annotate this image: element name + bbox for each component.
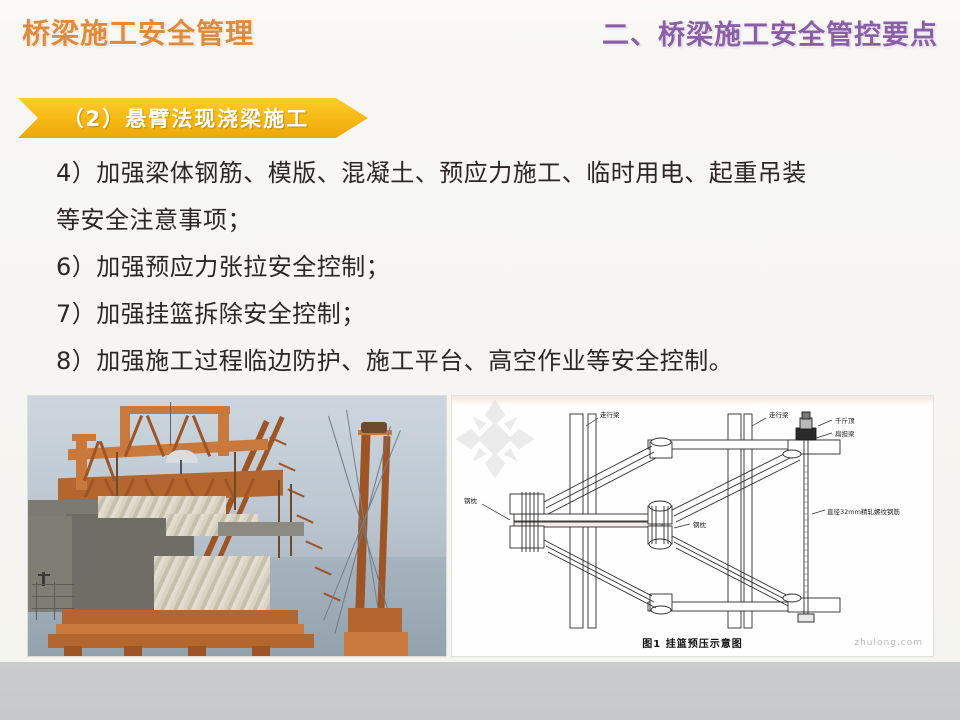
diagram-label: 走行梁 <box>600 409 620 419</box>
diagram-label: 钢枕 <box>464 495 477 505</box>
diagram-label: 走行梁 <box>769 409 789 419</box>
body-paragraph: 等安全注意事项； <box>56 197 936 244</box>
body-paragraph: 4）加强梁体钢筋、模版、混凝土、预应力施工、临时用电、起重吊装 <box>56 150 936 197</box>
diagram-label: 扁担梁 <box>835 428 855 438</box>
slide-canvas: 桥梁施工安全管理 二、桥梁施工安全管控要点 （2）悬臂法现浇梁施工 4）加强梁体… <box>0 0 960 720</box>
body-text-block: 4）加强梁体钢筋、模版、混凝土、预应力施工、临时用电、起重吊装 等安全注意事项；… <box>56 150 936 385</box>
figure-caption: 图1 挂篮预压示意图 <box>452 635 933 650</box>
section-banner-label: （2）悬臂法现浇梁施工 <box>18 98 368 138</box>
body-paragraph: 7）加强挂篮拆除安全控制； <box>56 291 936 338</box>
page-title-right: 二、桥梁施工安全管控要点 <box>602 13 938 52</box>
technical-diagram: 走行梁 走行梁 千斤顶 扁担梁 钢枕 钢枕 直径32mm精轧螺纹钢筋 <box>452 396 933 656</box>
body-paragraph: 6）加强预应力张拉安全控制； <box>56 244 936 291</box>
body-paragraph: 8）加强施工过程临边防护、施工平台、高空作业等安全控制。 <box>56 338 936 385</box>
diagram-label: 钢枕 <box>693 519 706 529</box>
diagram-label: 直径32mm精轧螺纹钢筋 <box>827 506 900 516</box>
diagram-label: 千斤顶 <box>835 415 855 425</box>
page-title-left: 桥梁施工安全管理 <box>22 12 254 52</box>
footer-band <box>0 662 960 720</box>
construction-site-photo <box>28 396 446 656</box>
zhulong-watermark-icon <box>452 396 538 482</box>
slide-header: 桥梁施工安全管理 二、桥梁施工安全管控要点 <box>0 0 960 58</box>
media-row: 走行梁 走行梁 千斤顶 扁担梁 钢枕 钢枕 直径32mm精轧螺纹钢筋 <box>28 396 933 658</box>
